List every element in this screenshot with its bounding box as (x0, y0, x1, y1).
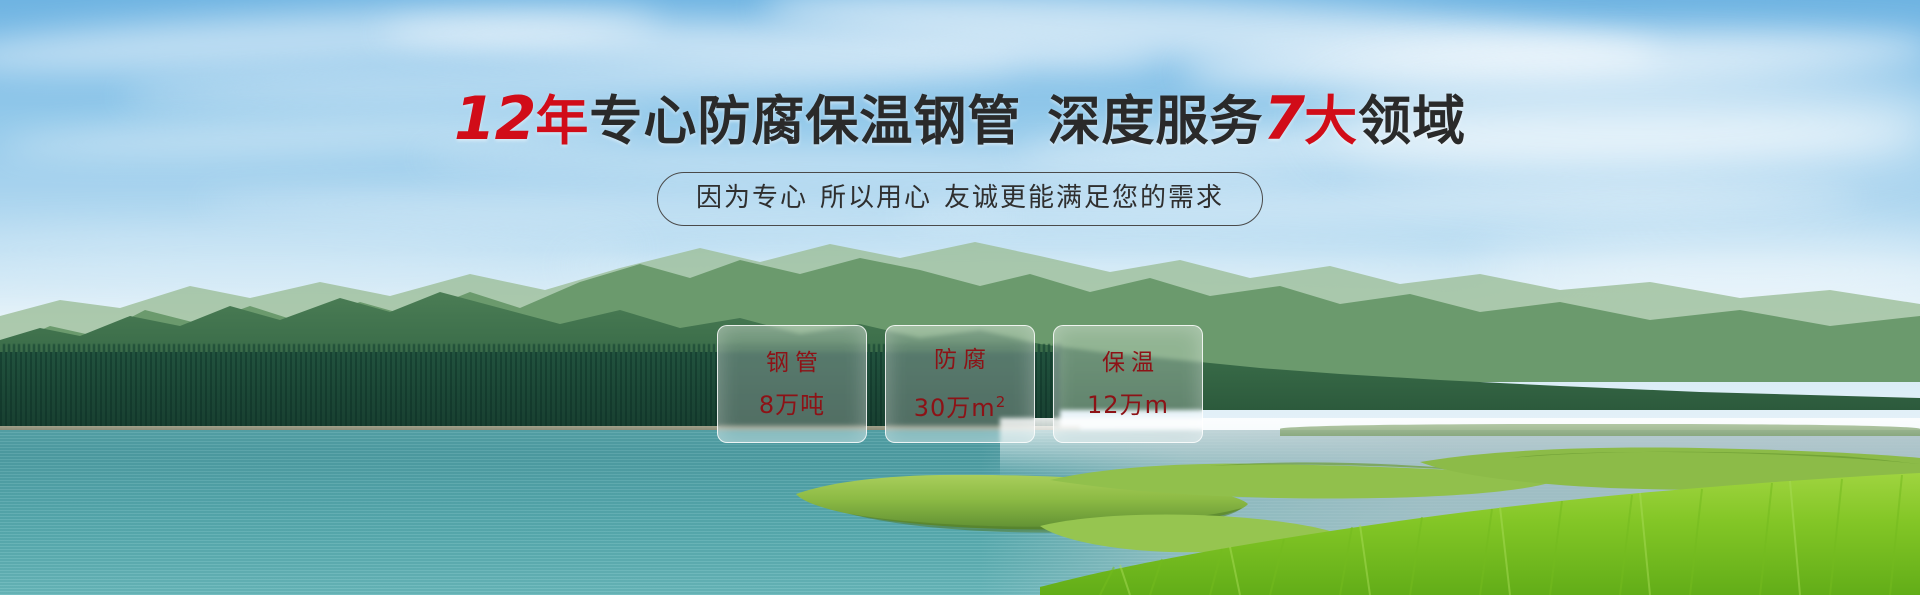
stat-card-label: 钢管 (760, 350, 824, 376)
headline-years-unit: 年 (535, 91, 589, 152)
stat-card-label: 保温 (1096, 350, 1160, 376)
headline-service-text: 深度服务 (1047, 91, 1263, 152)
stat-card-value: 30万m2 (914, 389, 1006, 422)
headline-fields-number: 7 (1263, 84, 1304, 154)
stat-card-value: 8万吨 (759, 392, 825, 419)
stat-card-value-main: 8万吨 (759, 391, 825, 419)
headline-main-text: 专心防腐保温钢管 (589, 91, 1021, 152)
headline: 12年专心防腐保温钢管深度服务7大领域 (0, 88, 1920, 153)
promo-banner: 12年专心防腐保温钢管深度服务7大领域 因为专心所以用心友诚更能满足您的需求 钢… (0, 0, 1920, 595)
headline-fields-text: 领域 (1358, 91, 1466, 152)
stat-card-value-main: 30万m (914, 394, 996, 422)
stat-card-value: 12万m (1087, 392, 1169, 419)
subtitle-pill: 因为专心所以用心友诚更能满足您的需求 (657, 172, 1263, 226)
subtitle-container: 因为专心所以用心友诚更能满足您的需求 (0, 172, 1920, 226)
headline-fields-unit: 大 (1304, 91, 1358, 152)
stat-card-anticorrosion: 防腐 30万m2 (885, 325, 1035, 443)
stat-card-label: 防腐 (928, 347, 992, 373)
stat-card-insulation: 保温 12万m (1053, 325, 1203, 443)
stat-card-value-main: 12万m (1087, 391, 1169, 419)
stats-card-group: 钢管 8万吨 防腐 30万m2 保温 12万m (0, 325, 1920, 443)
headline-years-number: 12 (454, 84, 536, 154)
subtitle-segment-3: 友诚更能满足您的需求 (944, 183, 1224, 213)
stat-card-steel-pipe: 钢管 8万吨 (717, 325, 867, 443)
subtitle-segment-1: 因为专心 (696, 183, 808, 213)
stat-card-value-exponent: 2 (996, 393, 1007, 411)
subtitle-segment-2: 所以用心 (820, 183, 932, 213)
